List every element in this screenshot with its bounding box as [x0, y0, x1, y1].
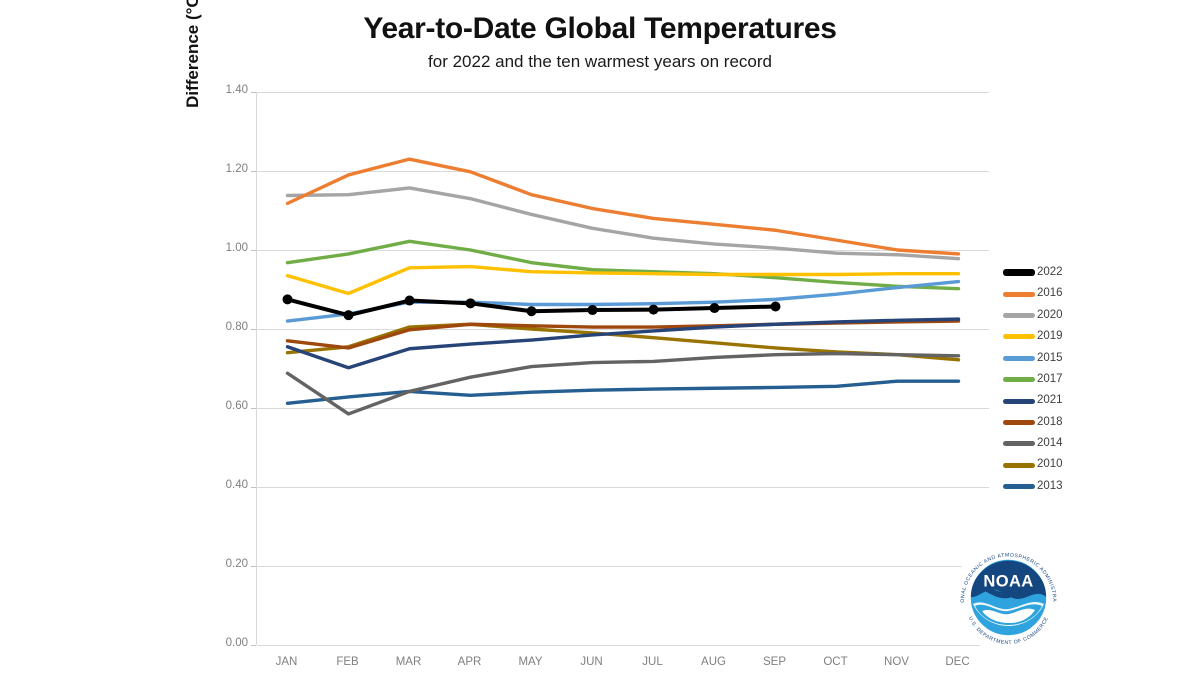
- series-marker: [649, 305, 659, 315]
- y-axis-tick-mark: [251, 171, 256, 172]
- legend-item-label: 2019: [1037, 331, 1063, 343]
- series-marker: [771, 301, 781, 311]
- y-axis-tick-label: 1.00: [200, 242, 248, 254]
- series-lines: [257, 92, 989, 645]
- x-axis-tick-label: FEB: [318, 656, 378, 668]
- chart-page: Year-to-Date Global Temperatures for 202…: [0, 0, 1200, 675]
- x-axis-tick-label: SEP: [745, 656, 805, 668]
- x-axis-tick-label: DEC: [928, 656, 988, 668]
- legend-item-label: 2021: [1037, 395, 1063, 407]
- legend-swatch-icon: [1003, 463, 1035, 468]
- noaa-logo: NATIONAL OCEANIC AND ATMOSPHERIC ADMINIS…: [952, 541, 1065, 654]
- x-axis-tick-label: JUL: [623, 656, 683, 668]
- y-axis-tick-mark: [251, 92, 256, 93]
- y-axis-tick-label: 0.20: [200, 558, 248, 570]
- legend-item-label: 2015: [1037, 353, 1063, 365]
- legend-item-2014[interactable]: 2014: [1003, 433, 1093, 454]
- chart-legend[interactable]: 2022201620202019201520172021201820142010…: [1003, 262, 1093, 497]
- legend-item-2022[interactable]: 2022: [1003, 262, 1093, 283]
- legend-item-2018[interactable]: 2018: [1003, 412, 1093, 433]
- legend-item-2020[interactable]: 2020: [1003, 305, 1093, 326]
- legend-swatch-icon: [1003, 334, 1035, 339]
- legend-item-label: 2018: [1037, 417, 1063, 429]
- legend-item-2017[interactable]: 2017: [1003, 369, 1093, 390]
- series-marker: [527, 306, 537, 316]
- legend-item-2021[interactable]: 2021: [1003, 390, 1093, 411]
- x-axis-tick-label: NOV: [867, 656, 927, 668]
- legend-swatch-icon: [1003, 292, 1035, 297]
- y-axis-tick-label: 0.80: [200, 321, 248, 333]
- legend-swatch-icon: [1003, 269, 1035, 276]
- legend-swatch-icon: [1003, 420, 1035, 425]
- plot-area: [256, 92, 989, 645]
- legend-item-2019[interactable]: 2019: [1003, 326, 1093, 347]
- legend-item-2013[interactable]: 2013: [1003, 476, 1093, 497]
- legend-swatch-icon: [1003, 377, 1035, 382]
- series-line: [288, 241, 959, 288]
- series-marker: [283, 294, 293, 304]
- series-line: [288, 159, 959, 254]
- legend-item-label: 2010: [1037, 459, 1063, 471]
- y-axis-tick-label: 0.60: [200, 400, 248, 412]
- y-axis-tick-label: 0.40: [200, 479, 248, 491]
- legend-item-2015[interactable]: 2015: [1003, 348, 1093, 369]
- series-marker: [710, 303, 720, 313]
- legend-swatch-icon: [1003, 399, 1035, 404]
- legend-item-label: 2020: [1037, 310, 1063, 322]
- page-subtitle: for 2022 and the ten warmest years on re…: [0, 52, 1200, 72]
- series-line: [288, 188, 959, 259]
- legend-swatch-icon: [1003, 484, 1035, 489]
- y-axis-tick-mark: [251, 408, 256, 409]
- legend-item-label: 2014: [1037, 438, 1063, 450]
- x-axis-tick-label: OCT: [806, 656, 866, 668]
- legend-swatch-icon: [1003, 356, 1035, 361]
- legend-item-2010[interactable]: 2010: [1003, 455, 1093, 476]
- series-marker: [466, 298, 476, 308]
- legend-swatch-icon: [1003, 441, 1035, 446]
- y-axis-tick-mark: [251, 645, 256, 646]
- legend-swatch-icon: [1003, 313, 1035, 318]
- legend-item-label: 2022: [1037, 267, 1063, 279]
- y-axis-tick-mark: [251, 329, 256, 330]
- legend-item-label: 2016: [1037, 288, 1063, 300]
- x-axis-tick-label: MAR: [379, 656, 439, 668]
- noaa-logo-icon: NATIONAL OCEANIC AND ATMOSPHERIC ADMINIS…: [952, 541, 1065, 654]
- x-axis-tick-label: JAN: [257, 656, 317, 668]
- y-axis-tick-label: 1.20: [200, 163, 248, 175]
- series-line: [288, 282, 959, 322]
- y-axis-title: Difference (°C) from the 20th century av…: [183, 0, 203, 135]
- y-axis-tick-mark: [251, 250, 256, 251]
- svg-text:NOAA: NOAA: [983, 573, 1033, 591]
- page-title: Year-to-Date Global Temperatures: [0, 12, 1200, 46]
- y-axis-tick-mark: [251, 566, 256, 567]
- series-marker: [405, 296, 415, 306]
- y-axis-tick-label: 1.40: [200, 84, 248, 96]
- x-axis-tick-label: AUG: [684, 656, 744, 668]
- legend-item-label: 2017: [1037, 374, 1063, 386]
- x-axis-tick-label: APR: [440, 656, 500, 668]
- series-marker: [588, 305, 598, 315]
- series-marker: [344, 310, 354, 320]
- legend-item-label: 2013: [1037, 481, 1063, 493]
- y-axis-tick-mark: [251, 487, 256, 488]
- legend-item-2016[interactable]: 2016: [1003, 283, 1093, 304]
- x-axis-tick-label: MAY: [501, 656, 561, 668]
- y-axis-tick-label: 0.00: [200, 637, 248, 649]
- x-axis-tick-label: JUN: [562, 656, 622, 668]
